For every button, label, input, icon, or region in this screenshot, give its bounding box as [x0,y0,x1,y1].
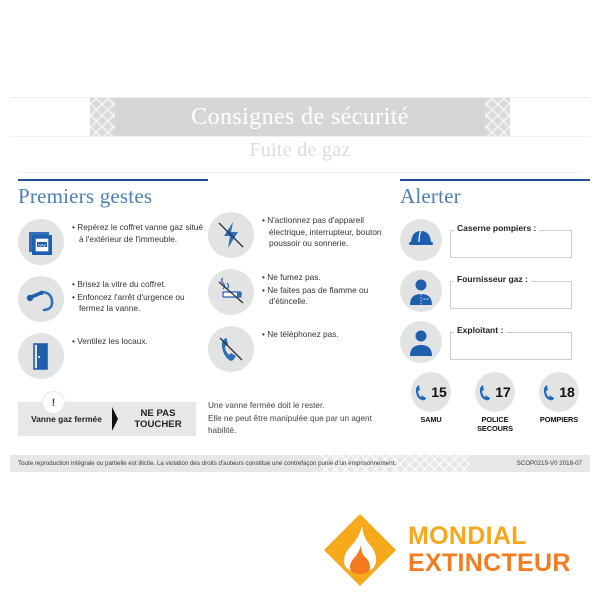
emergency-number-police: 17 POLICE SECOURS [464,372,526,433]
footer-legal-text: Toute reproduction intégrale ou partiell… [18,455,396,472]
open-door-icon [18,333,64,379]
footer-bar: Toute reproduction intégrale ou partiell… [10,455,590,472]
emergency-badge: 17 [475,372,515,412]
contact-row-fournisseur-gaz: GAZ Fournisseur gaz : [400,270,590,312]
footer-reference-code: SCOP0219-V0 2018-07 [517,455,582,472]
bullet-line: Ne téléphonez pas. [262,329,339,341]
valve-note-line: Elle ne peut être manipulée que par un a… [208,413,398,425]
contact-field: Caserne pompiers : [450,223,572,258]
bullet-line: Enfoncez l'arrêt d'urgence ou fermez la … [72,292,208,315]
emergency-badge: 15 [411,372,451,412]
emergency-number-label: POLICE SECOURS [464,415,526,433]
contact-label: Caserne pompiers : [454,223,539,233]
bullet-line: Repérez le coffret vanne gaz situé à l'e… [72,222,208,245]
emergency-number-label: POMPIERS [528,415,590,424]
contact-row-exploitant: Exploitant : [400,321,590,363]
instruction-item: Ne fumez pas. Ne faites pas de flamme ou… [208,269,393,315]
header-band: Consignes de sécurité [10,97,590,137]
bullet-line: N'actionnez pas d'appareil électrique, i… [262,215,393,250]
caserne-pompiers-input[interactable] [450,230,572,258]
no-phone-icon [208,326,254,372]
contact-row-caserne-pompiers: Caserne pompiers : [400,219,590,261]
emergency-number-samu: 15 SAMU [400,372,462,433]
exploitant-input[interactable] [450,332,572,360]
emergency-number-value: 17 [495,384,511,400]
contact-field: Exploitant : [450,325,572,360]
instruction-text: Ne téléphonez pas. [262,326,339,342]
poster-title: Consignes de sécurité [10,98,590,136]
poster-subtitle: Fuite de gaz [10,139,590,162]
column-alerter: Alerter Caserne pompiers : G [400,179,590,433]
phone-icon [415,384,430,401]
emergency-number-value: 18 [559,384,575,400]
instruction-text: Repérez le coffret vanne gaz situé à l'e… [72,219,208,246]
warning-exclamation-icon: ! [42,391,65,414]
fournisseur-gaz-input[interactable] [450,281,572,309]
section-rule [400,179,590,181]
tag-separator-icon [111,406,120,432]
brand-logo: MONDIAL EXTINCTEUR [322,512,571,588]
bullet-line: Brisez la vitre du coffret. [72,279,208,291]
instruction-item: Ne téléphonez pas. [208,326,393,372]
instruction-text: Brisez la vitre du coffret. Enfoncez l'a… [72,276,208,316]
gas-supplier-person-icon: GAZ [400,270,442,312]
bullet-line: Ventilez les locaux. [72,336,148,348]
valve-tag-body: ! Vanne gaz fermée NE PAS TOUCHER [18,402,196,436]
valve-note-line: Une vanne fermée doit le rester. [208,400,398,412]
firefighter-helmet-icon [400,219,442,261]
instruction-text: Ventilez les locaux. [72,333,148,349]
section-rule [18,179,208,181]
emergency-badge: 18 [539,372,579,412]
valve-note: Une vanne fermée doit le rester. Elle ne… [208,400,398,438]
phone-icon [479,384,494,401]
broken-glass-hammer-icon [18,276,64,322]
valve-note-line: habilité. [208,425,398,437]
column-premiers-gestes: Premiers gestes GAZ Repérez le coffret v… [18,179,208,390]
no-smoking-icon [208,269,254,315]
operator-person-icon [400,321,442,363]
section-title-premiers-gestes: Premiers gestes [18,184,208,209]
column-interdictions: N'actionnez pas d'appareil électrique, i… [208,179,393,383]
instruction-item: Ventilez les locaux. [18,333,208,379]
valve-tag-right-text: NE PAS TOUCHER [120,408,196,430]
svg-text:GAZ: GAZ [423,297,429,301]
brand-name-line2: EXTINCTEUR [408,551,571,576]
safety-poster: Consignes de sécurité Fuite de gaz Premi… [10,97,590,482]
valve-tag-left-text: Vanne gaz fermée [18,414,111,424]
emergency-number-label: SAMU [400,415,462,424]
phone-icon [543,384,558,401]
instruction-item: N'actionnez pas d'appareil électrique, i… [208,212,393,258]
header-divider [18,172,582,173]
contact-label: Fournisseur gaz : [454,274,531,284]
section-title-alerter: Alerter [400,184,590,209]
contact-label: Exploitant : [454,325,506,335]
brand-name-line1: MONDIAL [408,524,571,549]
contact-field: Fournisseur gaz : [450,274,572,309]
instruction-item: GAZ Repérez le coffret vanne gaz situé à… [18,219,208,265]
emergency-number-value: 15 [431,384,447,400]
brand-logo-text: MONDIAL EXTINCTEUR [408,524,571,576]
emergency-numbers: 15 SAMU 17 POLICE SECOURS 18 [400,372,590,433]
svg-text:GAZ: GAZ [38,242,47,247]
no-electricity-icon [208,212,254,258]
bullet-line: Ne fumez pas. [262,272,393,284]
bullet-line: Ne faites pas de flamme ou d'étincelle. [262,285,393,308]
instruction-text: Ne fumez pas. Ne faites pas de flamme ou… [262,269,393,309]
valve-tag: ! Vanne gaz fermée NE PAS TOUCHER [18,402,196,436]
instruction-text: N'actionnez pas d'appareil électrique, i… [262,212,393,251]
emergency-number-pompiers: 18 POMPIERS [528,372,590,433]
instruction-item: Brisez la vitre du coffret. Enfoncez l'a… [18,276,208,322]
gas-cabinet-icon: GAZ [18,219,64,265]
flame-diamond-icon [322,512,398,588]
